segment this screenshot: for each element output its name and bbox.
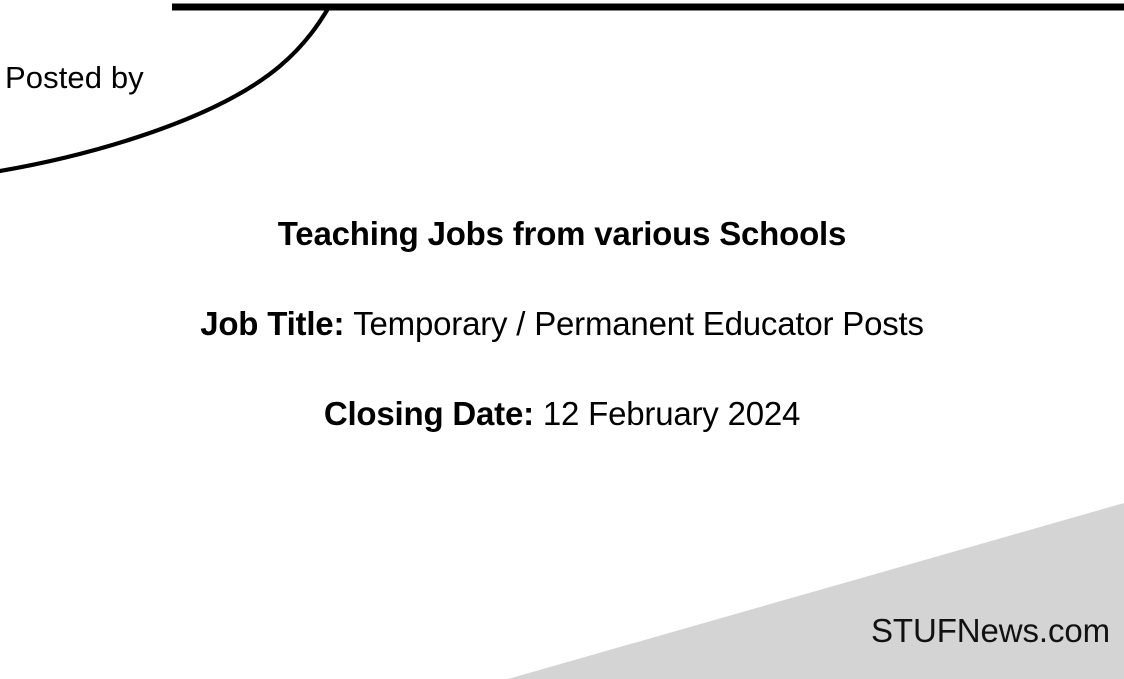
- closing-date-value: 12 February 2024: [543, 395, 800, 432]
- gray-wedge: [508, 503, 1124, 679]
- job-title-value: Temporary / Permanent Educator Posts: [353, 305, 924, 342]
- posted-by-label: Posted by: [5, 58, 144, 98]
- job-title-row: Job Title: Temporary / Permanent Educato…: [0, 302, 1124, 346]
- site-watermark: STUFNews.com: [871, 611, 1110, 651]
- job-poster: Posted by Teaching Jobs from various Sch…: [0, 0, 1124, 679]
- closing-date-label: Closing Date:: [324, 395, 543, 432]
- closing-date-row: Closing Date: 12 February 2024: [0, 392, 1124, 436]
- page-title: Teaching Jobs from various Schools: [0, 212, 1124, 256]
- job-title-label: Job Title:: [200, 305, 353, 342]
- poster-content: Teaching Jobs from various Schools Job T…: [0, 212, 1124, 436]
